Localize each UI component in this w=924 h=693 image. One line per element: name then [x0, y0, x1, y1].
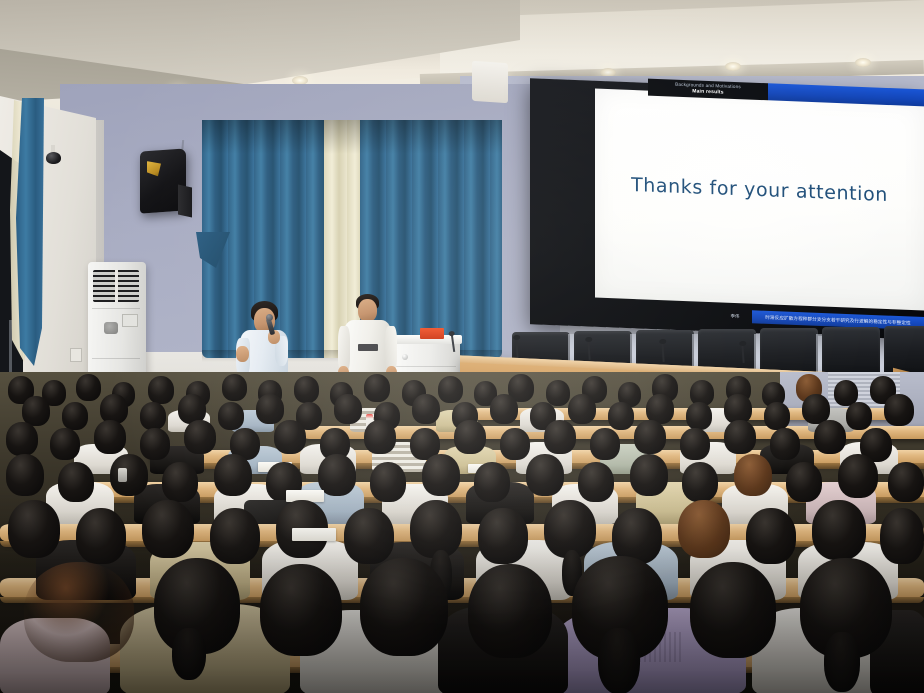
audience-head [218, 402, 244, 430]
audience-head [148, 376, 174, 404]
audience-head [746, 508, 796, 564]
audience-head [274, 420, 306, 454]
audience-head [500, 428, 530, 460]
ac-panel-seam [92, 358, 140, 359]
audience-head [222, 374, 247, 401]
lectern-knob[interactable] [402, 354, 408, 360]
audience-head [110, 454, 148, 496]
audience-head [360, 558, 448, 656]
audience-head [526, 454, 564, 496]
audience-head [364, 374, 390, 402]
presentation-slide: Thanks for your attention [595, 89, 924, 311]
curtain-top-shadow [202, 120, 502, 154]
audience-head [334, 394, 362, 424]
window-curtain-blue [16, 98, 44, 368]
audience-head [294, 376, 319, 403]
audience-head [364, 420, 396, 454]
audience-ponytail [172, 628, 206, 680]
audience-head [260, 564, 342, 656]
presenter2-head [358, 299, 377, 322]
slide-main-text: Thanks for your attention [595, 173, 924, 208]
stage-chair [822, 327, 880, 375]
audience-head [630, 454, 668, 496]
audience-head [478, 508, 528, 564]
red-object-on-lectern [420, 328, 444, 339]
slide-footer-presenter: 李伟 [718, 312, 752, 319]
audience-head [682, 462, 718, 502]
audience-head [6, 454, 44, 496]
audience-head [686, 402, 712, 430]
audience-head [734, 454, 772, 496]
audience-head [142, 500, 194, 558]
audience-head [770, 428, 800, 460]
ac-grille-divider [115, 270, 118, 302]
audience-head [8, 500, 60, 558]
audience-head [814, 420, 846, 454]
audience-head [344, 508, 394, 564]
stage-chair [884, 326, 924, 374]
camera-dome [46, 152, 61, 164]
audience-head [634, 420, 666, 454]
slide-nav-section-active: Main results [692, 89, 724, 95]
audience-head [880, 508, 924, 564]
audience-head [690, 562, 776, 658]
audience-head [184, 420, 216, 454]
audience-head [140, 402, 166, 430]
audience-ponytail [824, 632, 860, 692]
audience-head [454, 420, 486, 454]
audience-head [412, 394, 440, 424]
audience-head [474, 462, 510, 502]
audience-head [94, 420, 126, 454]
speaker-bracket [178, 185, 192, 218]
audience-head [884, 394, 914, 426]
audience-head [58, 462, 94, 502]
downlight-icon [725, 62, 741, 71]
audience-head [468, 564, 552, 658]
audience-head [214, 454, 252, 496]
audience-head [76, 508, 126, 564]
audience-head [568, 394, 596, 424]
audience-area [0, 372, 924, 693]
ac-control-panel[interactable] [122, 314, 138, 327]
lectern-seam [396, 366, 456, 367]
ac-brand-logo [104, 322, 118, 334]
audience-head [490, 394, 518, 424]
audience-head [786, 462, 822, 502]
audience-head [6, 422, 38, 456]
audience-head [764, 402, 790, 430]
audience-head [50, 428, 80, 460]
audience-head [724, 420, 756, 454]
microphone-head [266, 314, 273, 321]
audience-ponytail [598, 628, 640, 693]
audience-head [608, 402, 634, 430]
audience-head [812, 500, 866, 560]
audience-head [162, 462, 198, 502]
audience-head [140, 428, 170, 460]
lecture-hall-photo: Thanks for your attention Backgrounds an… [0, 0, 924, 693]
audience-head [578, 462, 614, 502]
downlight-icon [855, 58, 871, 67]
audience-head [838, 454, 878, 498]
audience-head [888, 462, 924, 502]
audience-head [256, 394, 284, 424]
audience-head [410, 500, 462, 558]
audience-head [546, 380, 570, 406]
dome-security-camera-icon [46, 145, 61, 165]
tshirt-chest-print [358, 344, 378, 351]
ac-panel-seam [92, 308, 140, 309]
audience-head [422, 454, 460, 496]
speaker-horn [147, 160, 161, 177]
audience-head [544, 420, 576, 454]
audience-head [76, 374, 101, 401]
audience-head [370, 462, 406, 502]
projector-screen-housing [472, 61, 508, 104]
presenter1-left-hand [236, 346, 249, 362]
audience-head [680, 428, 710, 460]
smartphone[interactable] [118, 468, 127, 482]
open-notebook [292, 528, 336, 541]
wall-power-socket [70, 348, 82, 362]
audience-head [678, 500, 730, 558]
audience-head [62, 402, 88, 430]
slide-footer-title: 时滞反应扩散方程种群分支分支若干研究及行波解的稳定性与非整定性 [765, 314, 911, 326]
audience-head [210, 508, 260, 564]
audience-head [24, 562, 134, 662]
audience-head [846, 402, 872, 430]
audience-head [438, 376, 463, 403]
audience-head [590, 428, 620, 460]
